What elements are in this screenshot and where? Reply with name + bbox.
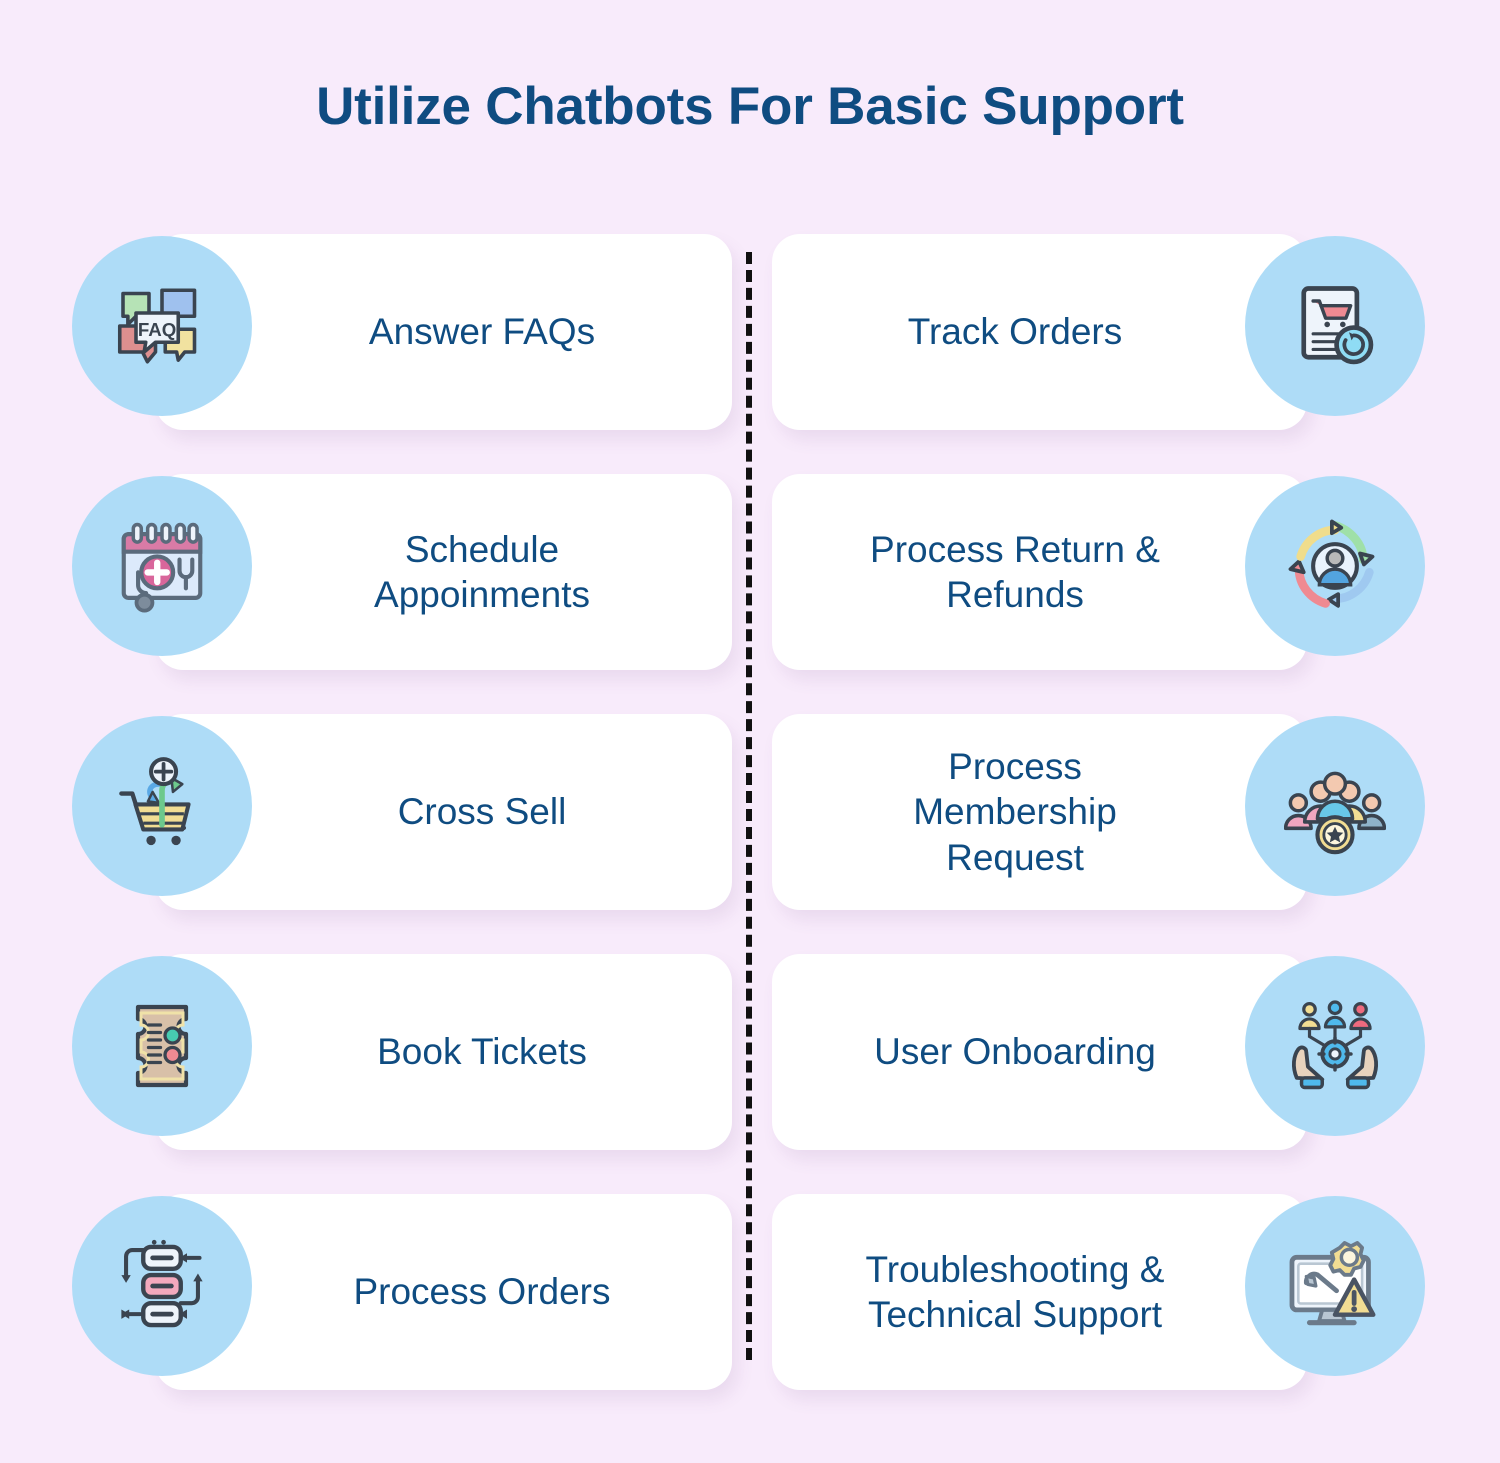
svg-text:FAQ: FAQ bbox=[138, 319, 176, 340]
card-label: Cross Sell bbox=[242, 789, 722, 834]
cross-sell-cart-icon bbox=[72, 716, 252, 896]
card-troubleshooting-technical-support[interactable]: Troubleshooting & Technical Support bbox=[772, 1194, 1307, 1390]
card-grid: Answer FAQs FAQ Track Orders bbox=[0, 228, 1500, 1428]
ticket-icon bbox=[72, 956, 252, 1136]
card-label: Process Return & Refunds bbox=[780, 527, 1250, 617]
card-label: Schedule Appoinments bbox=[242, 527, 722, 617]
return-refund-cycle-icon bbox=[1245, 476, 1425, 656]
card-row: Process Orders bbox=[0, 1188, 1500, 1428]
card-label: Process Membership Request bbox=[780, 744, 1250, 879]
card-label: Answer FAQs bbox=[242, 309, 722, 354]
infographic-root: Utilize Chatbots For Basic Support Answe… bbox=[0, 0, 1500, 1463]
card-label: Book Tickets bbox=[242, 1029, 722, 1074]
card-user-onboarding[interactable]: User Onboarding bbox=[772, 954, 1307, 1150]
card-label: Process Orders bbox=[242, 1269, 722, 1314]
membership-group-star-icon bbox=[1245, 716, 1425, 896]
monitor-gear-warning-icon bbox=[1245, 1196, 1425, 1376]
page-title: Utilize Chatbots For Basic Support bbox=[0, 78, 1500, 136]
card-label: Troubleshooting & Technical Support bbox=[780, 1247, 1250, 1337]
medical-calendar-icon bbox=[72, 476, 252, 656]
card-label: User Onboarding bbox=[780, 1029, 1250, 1074]
card-row: Book Tickets bbox=[0, 948, 1500, 1188]
card-row: Schedule Appoinments bbox=[0, 468, 1500, 708]
order-tracking-clipboard-icon bbox=[1245, 236, 1425, 416]
card-row: Answer FAQs FAQ Track Orders bbox=[0, 228, 1500, 468]
process-flow-icon bbox=[72, 1196, 252, 1376]
faq-speech-bubbles-icon: FAQ bbox=[72, 236, 252, 416]
card-process-membership-request[interactable]: Process Membership Request bbox=[772, 714, 1307, 910]
card-track-orders[interactable]: Track Orders bbox=[772, 234, 1307, 430]
card-process-return-refunds[interactable]: Process Return & Refunds bbox=[772, 474, 1307, 670]
onboarding-hands-gear-icon bbox=[1245, 956, 1425, 1136]
card-label: Track Orders bbox=[780, 309, 1250, 354]
card-row: Cross Sell Process Membe bbox=[0, 708, 1500, 948]
